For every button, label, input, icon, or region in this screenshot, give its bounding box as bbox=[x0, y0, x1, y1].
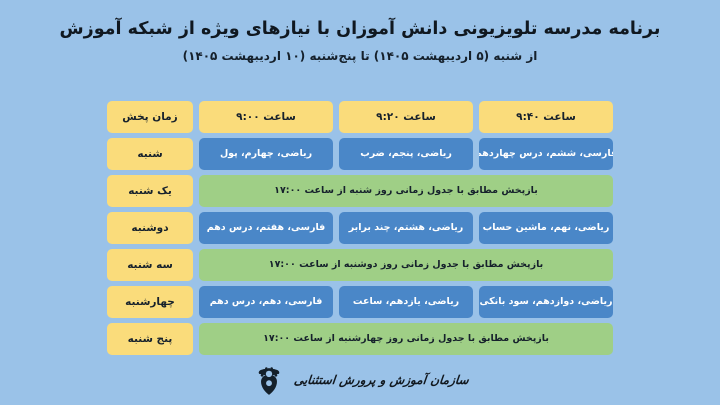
schedule-poster: برنامه مدرسه تلویزیونی دانش آموزان با نی… bbox=[0, 0, 720, 405]
exceptional-education-emblem-icon bbox=[252, 363, 286, 397]
lesson-cell: فارسی، ششم، درس چهاردهم bbox=[479, 138, 613, 170]
lesson-cell: ریاضی، دوازدهم، سود بانکی bbox=[479, 286, 613, 318]
lesson-cell: فارسی، دهم، درس دهم bbox=[199, 286, 333, 318]
table-row: فارسی، ششم، درس چهاردهم ریاضی، پنجم، ضرب… bbox=[107, 138, 613, 170]
rerun-notice-cell: بازپخش مطابق با جدول زمانی روز شنبه از س… bbox=[199, 175, 613, 207]
lesson-cell: ریاضی، پنجم، ضرب bbox=[339, 138, 473, 170]
lesson-cell: ریاضی، چهارم، پول bbox=[199, 138, 333, 170]
column-header-broadcast-time: زمان پخش bbox=[107, 101, 193, 133]
schedule-table: ساعت ۹:۴۰ ساعت ۹:۲۰ ساعت ۹:۰۰ زمان پخش ف… bbox=[107, 101, 613, 355]
table-row: ریاضی، نهم، ماشین حساب ریاضی، هشتم، چند … bbox=[107, 212, 613, 244]
day-label-saturday: شنبه bbox=[107, 138, 193, 170]
lesson-cell: ریاضی، هشتم، چند برابر bbox=[339, 212, 473, 244]
table-header-row: ساعت ۹:۴۰ ساعت ۹:۲۰ ساعت ۹:۰۰ زمان پخش bbox=[107, 101, 613, 133]
rerun-notice-cell: بازپخش مطابق با جدول زمانی روز چهارشنبه … bbox=[199, 323, 613, 355]
table-row: بازپخش مطابق با جدول زمانی روز دوشنبه از… bbox=[107, 249, 613, 281]
day-label-monday: دوشنبه bbox=[107, 212, 193, 244]
organization-name: سازمان آموزش و پرورش استثنایی bbox=[293, 373, 469, 387]
lesson-cell: فارسی، هفتم، درس دهم bbox=[199, 212, 333, 244]
column-header-time-0900: ساعت ۹:۰۰ bbox=[199, 101, 333, 133]
lesson-cell: ریاضی، یازدهم، ساعت bbox=[339, 286, 473, 318]
rerun-notice-cell: بازپخش مطابق با جدول زمانی روز دوشنبه از… bbox=[199, 249, 613, 281]
column-header-time-0920: ساعت ۹:۲۰ bbox=[339, 101, 473, 133]
poster-footer: سازمان آموزش و پرورش استثنایی bbox=[0, 363, 720, 397]
table-row: بازپخش مطابق با جدول زمانی روز چهارشنبه … bbox=[107, 323, 613, 355]
day-label-thursday: پنج شنبه bbox=[107, 323, 193, 355]
table-row: ریاضی، دوازدهم، سود بانکی ریاضی، یازدهم،… bbox=[107, 286, 613, 318]
table-row: بازپخش مطابق با جدول زمانی روز شنبه از س… bbox=[107, 175, 613, 207]
poster-header: برنامه مدرسه تلویزیونی دانش آموزان با نی… bbox=[0, 0, 720, 63]
column-header-time-0940: ساعت ۹:۴۰ bbox=[479, 101, 613, 133]
day-label-sunday: یک شنبه bbox=[107, 175, 193, 207]
date-range-subtitle: از شنبه (۵ اردیبهشت ۱۴۰۵) تا پنج‌شنبه (۱… bbox=[0, 49, 720, 63]
day-label-wednesday: چهارشنبه bbox=[107, 286, 193, 318]
day-label-tuesday: سه شنبه bbox=[107, 249, 193, 281]
lesson-cell: ریاضی، نهم، ماشین حساب bbox=[479, 212, 613, 244]
page-title: برنامه مدرسه تلویزیونی دانش آموزان با نی… bbox=[0, 18, 720, 42]
